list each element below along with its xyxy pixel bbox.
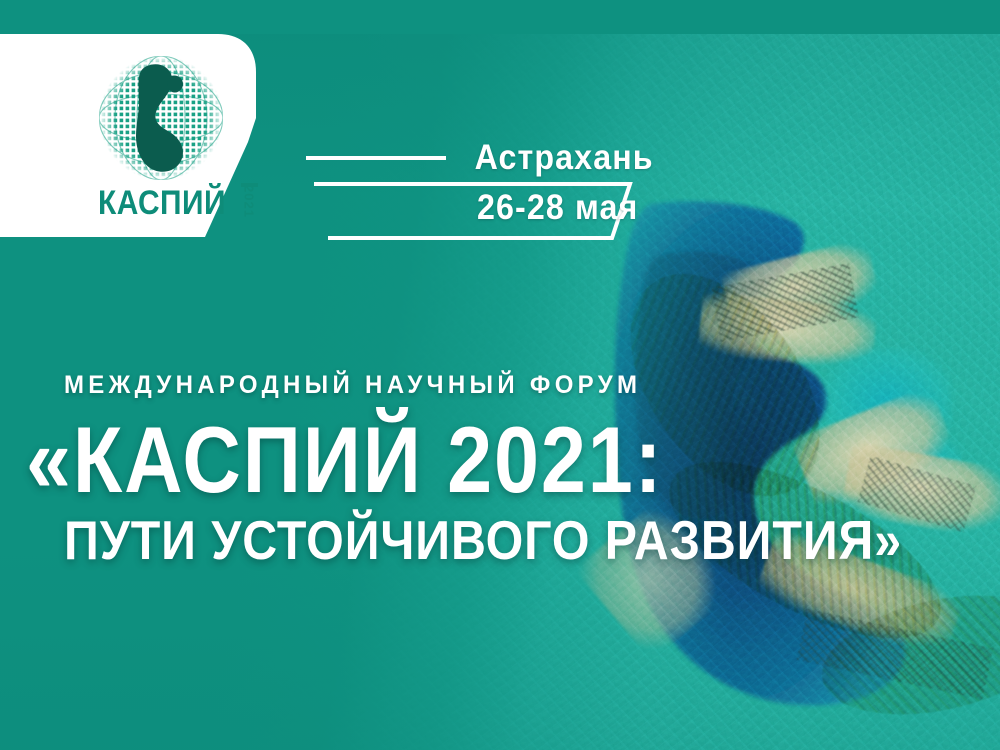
event-city: Астрахань: [475, 138, 654, 178]
logo-wordmark: КАСПИЙ 2021: [98, 186, 258, 220]
forum-eyebrow-text: МЕЖДУНАРОДНЫЙ НАУЧНЫЙ ФОРУМ: [64, 370, 675, 400]
event-title-block: МЕЖДУНАРОДНЫЙ НАУЧНЫЙ ФОРУМ «КАСПИЙ 2021…: [0, 370, 700, 570]
forum-headline-text: «КАСПИЙ 2021:: [26, 411, 646, 509]
event-poster: КАСПИЙ 2021 Астрахань 26-28 мая МЕЖДУНАР…: [0, 0, 1000, 750]
forum-subline-text: ПУТИ УСТОЙЧИВОГО РАЗВИТИЯ»: [64, 511, 655, 572]
event-dates: 26-28 мая: [477, 188, 638, 228]
globe-caspian-icon: [95, 52, 227, 184]
logo-name-text: КАСПИЙ: [98, 186, 226, 220]
logo-year-text: 2021: [243, 185, 256, 219]
event-location-block: Астрахань 26-28 мая: [300, 142, 660, 248]
top-color-band: [0, 0, 1000, 34]
logo-year-badge: 2021: [241, 186, 258, 220]
